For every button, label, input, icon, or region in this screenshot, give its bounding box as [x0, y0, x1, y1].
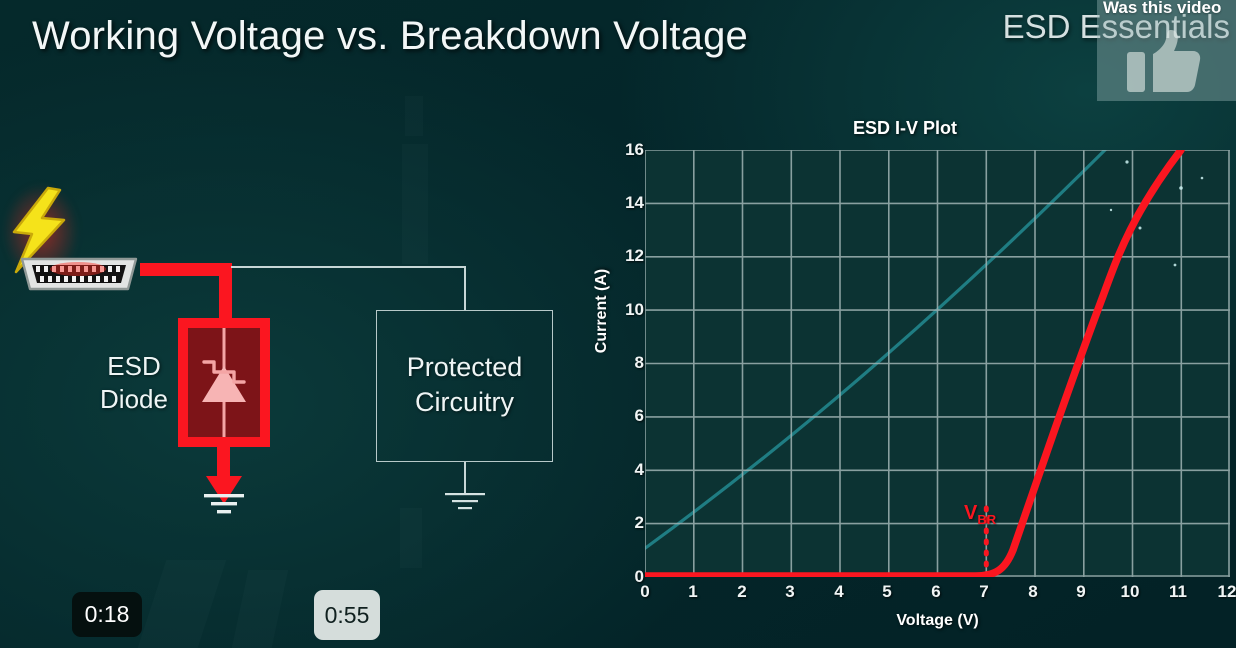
- x-tick-label: 0: [625, 582, 665, 602]
- esd-diode-label-line2: Diode: [92, 383, 176, 416]
- background-texture: [400, 508, 422, 568]
- signal-wire-vertical: [464, 266, 466, 311]
- surge-wire-vertical: [219, 263, 232, 323]
- x-tick-label: 5: [867, 582, 907, 602]
- background-texture: [405, 96, 423, 136]
- y-tick-label: 12: [604, 246, 644, 266]
- x-tick-label: 7: [964, 582, 1004, 602]
- y-tick-label: 8: [604, 353, 644, 373]
- ground-symbol-icon: [202, 494, 246, 516]
- y-tick-label: 2: [604, 513, 644, 533]
- slide-canvas: Working Voltage vs. Breakdown Voltage ES…: [0, 0, 1236, 648]
- y-tick-label: 4: [604, 460, 644, 480]
- chart-plot-area: [645, 150, 1230, 577]
- background-texture: [402, 144, 428, 264]
- chart-x-axis-label: Voltage (V): [645, 612, 1230, 630]
- page-title: Working Voltage vs. Breakdown Voltage: [32, 14, 748, 59]
- x-tick-label: 6: [916, 582, 956, 602]
- y-tick-label: 10: [604, 300, 644, 320]
- y-tick-label: 16: [604, 140, 644, 160]
- chart-title: ESD I-V Plot: [580, 118, 1230, 139]
- x-tick-label: 12: [1207, 582, 1236, 602]
- x-tick-label: 11: [1158, 582, 1198, 602]
- protected-label-line2: Circuitry: [376, 385, 553, 420]
- y-tick-label: 6: [604, 406, 644, 426]
- y-tick-label: 14: [604, 193, 644, 213]
- esd-diode-label-line1: ESD: [92, 350, 176, 383]
- esd-iv-chart: ESD I-V Plot Current (A) Voltage (V) 16 …: [580, 112, 1236, 648]
- signal-wire-horizontal: [231, 266, 466, 268]
- x-tick-label: 10: [1110, 582, 1150, 602]
- ground-symbol-icon: [443, 493, 487, 515]
- vbr-symbol: V: [964, 502, 977, 524]
- x-tick-label: 8: [1013, 582, 1053, 602]
- timestamp-badge-dark[interactable]: 0:18: [72, 592, 142, 637]
- x-tick-label: 4: [819, 582, 859, 602]
- background-texture: [138, 560, 227, 648]
- esd-diode-label: ESD Diode: [92, 350, 176, 417]
- protected-circuitry-label: Protected Circuitry: [376, 350, 553, 419]
- x-tick-label: 2: [722, 582, 762, 602]
- tvs-diode-icon: [188, 328, 260, 437]
- x-tick-label: 1: [673, 582, 713, 602]
- esd-diode-block: [178, 318, 270, 447]
- hdmi-connector-icon: [16, 255, 142, 293]
- x-tick-label: 9: [1061, 582, 1101, 602]
- protected-ground-wire: [464, 462, 466, 494]
- thumbs-up-icon[interactable]: [1127, 30, 1201, 92]
- breakdown-voltage-label: VBR: [964, 502, 996, 527]
- background-texture: [232, 570, 289, 648]
- protected-label-line1: Protected: [376, 350, 553, 385]
- vbr-subscript: BR: [977, 512, 996, 527]
- video-survey-overlay[interactable]: Was this video: [1097, 0, 1236, 101]
- x-tick-label: 3: [770, 582, 810, 602]
- timestamp-badge-light[interactable]: 0:55: [314, 590, 380, 640]
- survey-question: Was this video: [1103, 0, 1221, 18]
